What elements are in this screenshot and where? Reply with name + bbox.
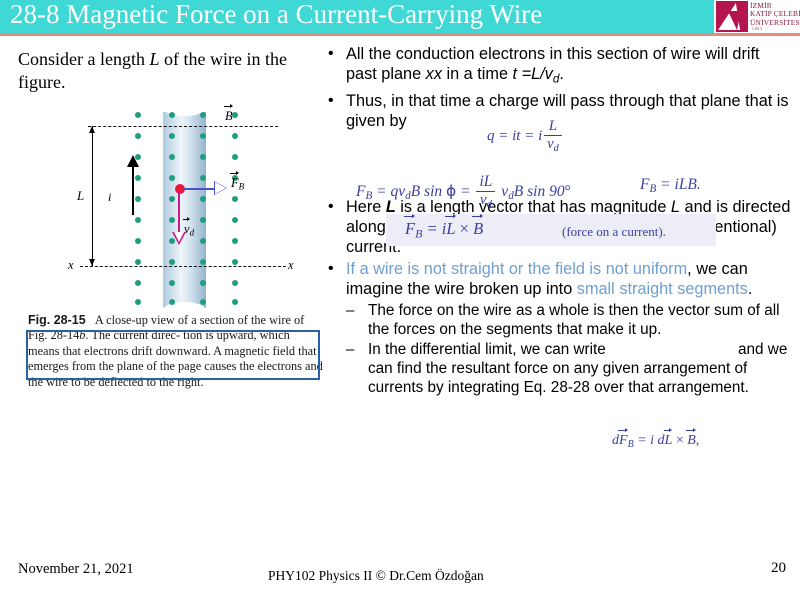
equation-force-result: FB = iLB. — [640, 176, 701, 195]
bullet-marker: • — [328, 91, 334, 111]
logo-name-text: İZMİRKATİP ÇELEBİÜNİVERSİTESİ — [750, 2, 800, 27]
bullet-1-seg-2: in a time — [442, 65, 513, 83]
bullet-4-seg-0: If a wire is not straight or the field i… — [346, 260, 687, 278]
page-title: 28-8 Magnetic Force on a Current-Carryin… — [10, 0, 542, 30]
field-dot — [135, 196, 141, 202]
slide-title-bar: 28-8 Magnetic Force on a Current-Carryin… — [0, 0, 800, 36]
top-boundary-dashed-line — [88, 126, 278, 127]
equation-force-derivation: FB = qvdB sin ϕ = iLvd vdB sin 90° — [356, 173, 571, 210]
label-x-right: x — [288, 258, 294, 273]
field-dot — [232, 154, 238, 160]
sub-bullet-marker: – — [346, 301, 354, 320]
caption-figure-number: Fig. 28-15 — [28, 313, 86, 327]
field-dot — [232, 133, 238, 139]
field-dot — [169, 196, 175, 202]
magnetic-field-dots — [60, 110, 310, 315]
bullet-marker: • — [328, 197, 334, 217]
bullet-4-seg-3: . — [748, 280, 753, 298]
sub-bullet-2-before: In the differential limit, we can write — [368, 341, 606, 358]
field-dot — [200, 196, 206, 202]
field-dot — [169, 133, 175, 139]
bullet-marker: • — [328, 44, 334, 64]
sub-bullet-marker: – — [346, 340, 354, 359]
bullet-item-1: • All the conduction electrons in this s… — [322, 44, 792, 89]
footer-date: November 21, 2021 — [18, 561, 134, 578]
length-arrow-up-icon — [89, 126, 95, 133]
label-vd-text: v — [184, 222, 190, 237]
field-dot — [200, 175, 206, 181]
label-vd-vector: vd — [184, 222, 194, 238]
field-dot — [135, 280, 141, 286]
bullet-1-seg-1: xx — [426, 65, 442, 83]
length-dimension-line — [92, 126, 93, 266]
sub-bullet-item-1: – The force on the wire as a whole is th… — [322, 301, 792, 339]
plane-xx-dashed-line — [80, 266, 286, 267]
label-L: L — [77, 188, 84, 204]
field-dot — [169, 112, 175, 118]
drift-velocity-head-fill — [174, 232, 184, 242]
intro-paragraph: Consider a length L of the wire in the f… — [18, 48, 328, 94]
field-dot — [200, 217, 206, 223]
label-B-vector: B — [225, 109, 233, 124]
caption-highlight-box — [26, 330, 320, 380]
force-vector-shaft — [184, 188, 216, 190]
footer-course-info: PHY102 Physics II © Dr.Cem Özdoğan — [268, 568, 484, 584]
field-dot — [232, 280, 238, 286]
bullet-1-seg-3: t =L/v — [513, 65, 553, 83]
footer-page-number: 20 — [771, 560, 786, 577]
bullet-item-4: • If a wire is not straight or the field… — [322, 259, 792, 299]
figure-28-15: L i B FB vd x x — [60, 110, 310, 315]
field-dot — [169, 217, 175, 223]
logo-sub-text: 1 8 6 3 — [752, 27, 762, 31]
label-vd-sub: d — [190, 228, 195, 238]
field-dot — [200, 112, 206, 118]
equation-force-vector-note: (force on a current). — [562, 224, 666, 240]
caption-line1: A close-up view of a section — [95, 313, 235, 327]
label-x-left: x — [68, 258, 74, 273]
field-dot — [169, 299, 175, 305]
field-dot — [135, 112, 141, 118]
equation-charge: q = it = iLvd — [487, 118, 564, 154]
label-FB-text: F — [231, 176, 239, 191]
field-dot — [135, 217, 141, 223]
field-dot — [232, 259, 238, 265]
field-dot — [232, 196, 238, 202]
current-arrow-head-icon — [127, 155, 139, 167]
field-dot — [135, 175, 141, 181]
field-dot — [200, 154, 206, 160]
label-B-text: B — [225, 109, 233, 124]
current-arrow-shaft — [132, 163, 134, 215]
field-dot — [200, 280, 206, 286]
sub-bullet-1-text: The force on the wire as a whole is then… — [368, 302, 780, 338]
sub-bullet-item-2: – In the differential limit, we can writ… — [322, 340, 792, 397]
intro-var-L: L — [149, 49, 159, 69]
logo-mark-icon — [716, 1, 748, 32]
drift-velocity-shaft — [178, 192, 180, 234]
field-dot — [200, 299, 206, 305]
bullet-marker: • — [328, 259, 334, 279]
field-dot — [169, 175, 175, 181]
label-FB-sub: B — [239, 182, 245, 192]
bullet-1-seg-5: . — [559, 65, 564, 83]
field-dot — [232, 299, 238, 305]
equation-force-vector: FB = iL × B — [405, 219, 483, 241]
length-arrow-down-icon — [89, 259, 95, 266]
field-dot — [200, 238, 206, 244]
field-dot — [135, 259, 141, 265]
label-i: i — [108, 190, 111, 205]
field-dot — [200, 133, 206, 139]
label-FB-vector: FB — [231, 176, 244, 192]
field-dot — [169, 154, 175, 160]
field-dot — [232, 217, 238, 223]
equation-differential-force: dFB = i dL × B, — [612, 433, 699, 450]
field-dot — [169, 280, 175, 286]
field-dot — [200, 259, 206, 265]
field-dot — [169, 259, 175, 265]
bullet-2-text: Thus, in that time a charge will pass th… — [346, 92, 789, 130]
field-dot — [135, 299, 141, 305]
intro-pre: Consider a length — [18, 49, 149, 69]
field-dot — [135, 238, 141, 244]
university-logo: İZMİRKATİP ÇELEBİÜNİVERSİTESİ 1 8 6 3 — [714, 0, 800, 33]
field-dot — [232, 238, 238, 244]
force-vector-head-fill — [215, 182, 226, 194]
field-dot — [135, 133, 141, 139]
bullet-4-seg-2: small straight segments — [577, 280, 748, 298]
